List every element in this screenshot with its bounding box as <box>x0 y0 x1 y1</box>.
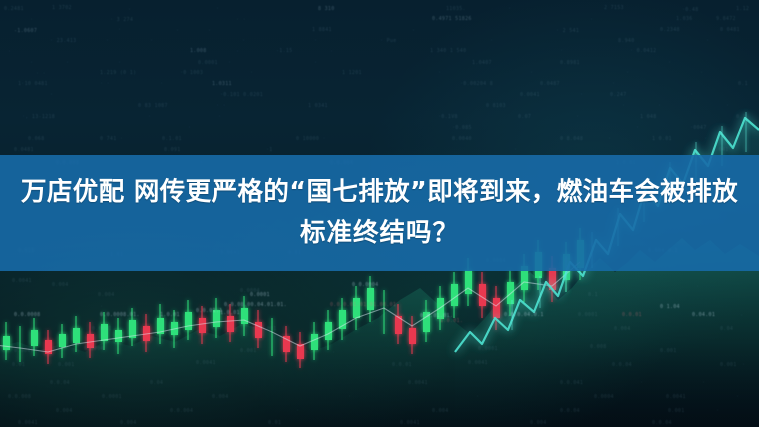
screenshot-root: 0.2481 1 3702 · · 8 310 11035. · 2 7153 … <box>0 0 759 427</box>
headline-banner: 万店优配 网传更严格的“国七排放”即将到来，燃油车会被排放 标准终结吗？ <box>0 155 759 271</box>
headline-line-1: 万店优配 网传更严格的“国七排放”即将到来，燃油车会被排放 <box>21 172 738 213</box>
headline-line-2: 标准终结吗？ <box>300 213 459 254</box>
